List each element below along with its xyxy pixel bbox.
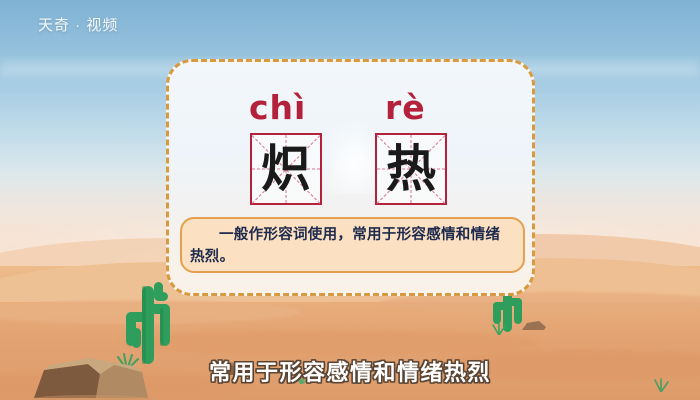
pinyin-char-2: rè (385, 88, 426, 127)
pinyin-char-1: chì (249, 88, 306, 127)
video-frame: 天奇 · 视频 chì rè 炽 热 一般作形容词使用，常用于形容感情和情绪热烈… (0, 0, 700, 400)
definition-box: 一般作形容词使用，常用于形容感情和情绪热烈。 (180, 217, 525, 273)
grass-tuft-right (486, 322, 512, 340)
pinyin-row: chì rè (169, 88, 538, 132)
hanzi-char-2: 热 (377, 135, 445, 203)
sand-ridge-3 (120, 330, 540, 356)
definition-text: 一般作形容词使用，常用于形容感情和情绪热烈。 (190, 225, 513, 269)
tianzige-grid-2: 热 (375, 133, 447, 205)
rock-small-right (521, 318, 547, 336)
subtitle-caption: 常用于形容感情和情绪热烈 (0, 355, 700, 387)
tianzige-grid-1: 炽 (250, 133, 322, 205)
hanzi-char-1: 炽 (252, 135, 320, 203)
vocabulary-card: chì rè 炽 热 一般作形容词使用，常用于形容感情和情绪热烈。 (166, 59, 535, 296)
watermark-logo: 天奇 · 视频 (38, 14, 118, 35)
